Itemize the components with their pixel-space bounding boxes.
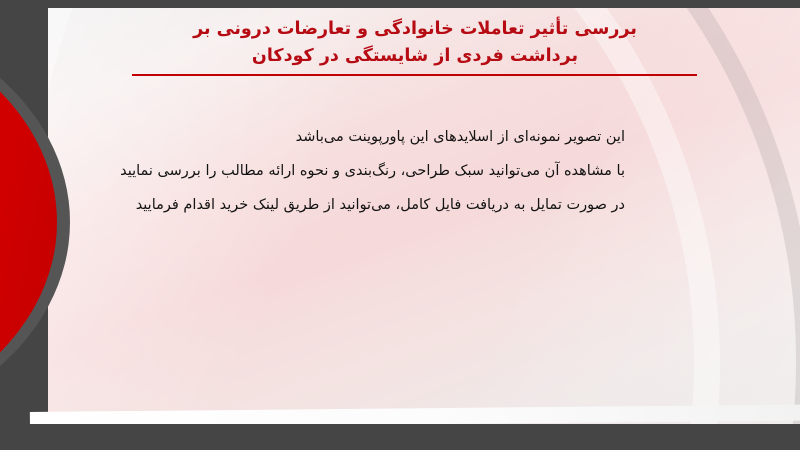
slide-title: بررسی تأثیر تعاملات خانوادگی و تعارضات د…	[120, 16, 710, 70]
presentation-slide: بررسی تأثیر تعاملات خانوادگی و تعارضات د…	[0, 0, 800, 450]
slide-body-line-2: با مشاهده آن می‌توانید سبک طراحی، رنگ‌بن…	[85, 154, 625, 188]
title-underline	[132, 74, 697, 76]
slide-title-line-1: بررسی تأثیر تعاملات خانوادگی و تعارضات د…	[120, 16, 710, 43]
bottom-frame-bar	[0, 424, 800, 450]
slide-title-line-2: برداشت فردی از شایستگی در کودکان	[120, 43, 710, 70]
slide-body-line-3: در صورت تمایل به دریافت فایل کامل، می‌تو…	[85, 188, 625, 222]
slide-body-line-1: این تصویر نمونه‌ای از اسلایدهای این پاور…	[85, 120, 625, 154]
slide-body: این تصویر نمونه‌ای از اسلایدهای این پاور…	[85, 120, 625, 222]
top-frame-bar	[0, 0, 800, 8]
